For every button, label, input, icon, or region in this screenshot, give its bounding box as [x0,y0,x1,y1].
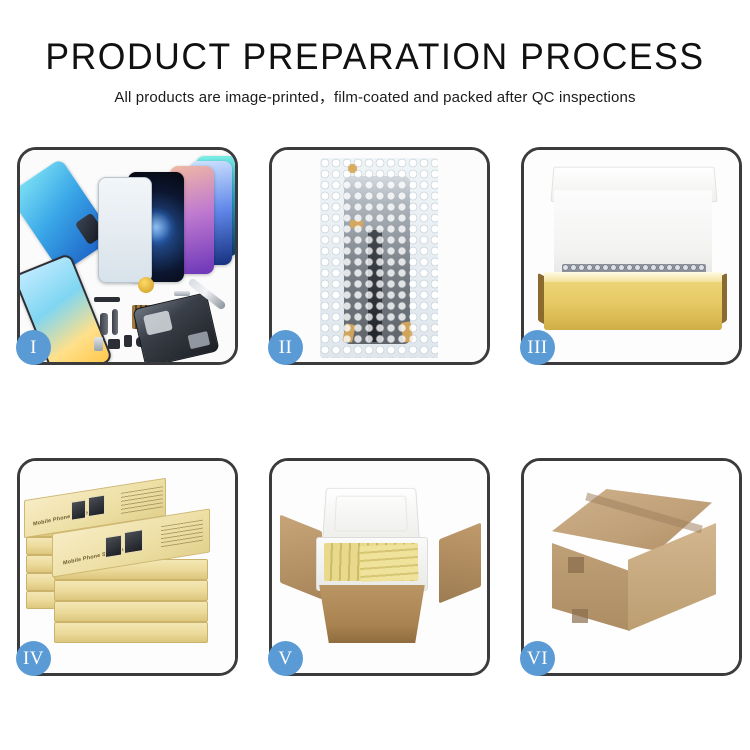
box-stack-right-2 [54,580,208,601]
page-header: PRODUCT PREPARATION PROCESS All products… [0,0,750,107]
process-step-panel-5[interactable]: V [269,458,490,676]
seal-mark-top [568,557,584,573]
yellow-boxes-secondary [359,544,418,582]
process-step-panel-6[interactable]: VI [521,458,742,676]
panel-6-image [524,461,739,673]
panel-3-image [524,150,739,362]
tempered-glass-screen [98,177,152,283]
step-badge-4: IV [16,641,51,676]
process-step-panel-4[interactable]: Mobile Phone Spare Parts Mobile Phone Sp… [17,458,238,676]
lid-screen-image-2 [88,494,105,517]
step-badge-2: II [268,330,303,365]
step-badge-3: III [520,330,555,365]
box-stack-right-3 [54,601,208,622]
carton-front-face [312,585,432,643]
page-subtitle: All products are image-printed，film-coat… [0,86,750,107]
lid-print-lines-1 [121,486,163,515]
panel-1-image [20,150,235,362]
panel-2-image [272,150,487,362]
foam-lid [322,488,420,543]
panel-5-image [272,461,487,673]
process-step-panel-1[interactable]: I [17,147,238,365]
lid-print-lines-2 [161,520,203,549]
lid-screen-image-1 [71,499,86,520]
lid-screen-image-3 [105,534,122,558]
box-stack-right-4 [54,622,208,643]
process-step-grid: I II III [17,147,733,676]
seal-mark-bottom [572,609,588,623]
process-step-panel-2[interactable]: II [269,147,490,365]
lid-screen-image-4 [124,529,143,554]
page-title: PRODUCT PREPARATION PROCESS [15,38,735,77]
step-badge-1: I [16,330,51,365]
process-step-panel-3[interactable]: III [521,147,742,365]
step-badge-6: VI [520,641,555,676]
panel-4-image: Mobile Phone Spare Parts Mobile Phone Sp… [20,461,235,673]
kraft-box-tray [544,272,722,330]
step-badge-5: V [268,641,303,676]
bubble-wrap-bag [320,158,438,358]
